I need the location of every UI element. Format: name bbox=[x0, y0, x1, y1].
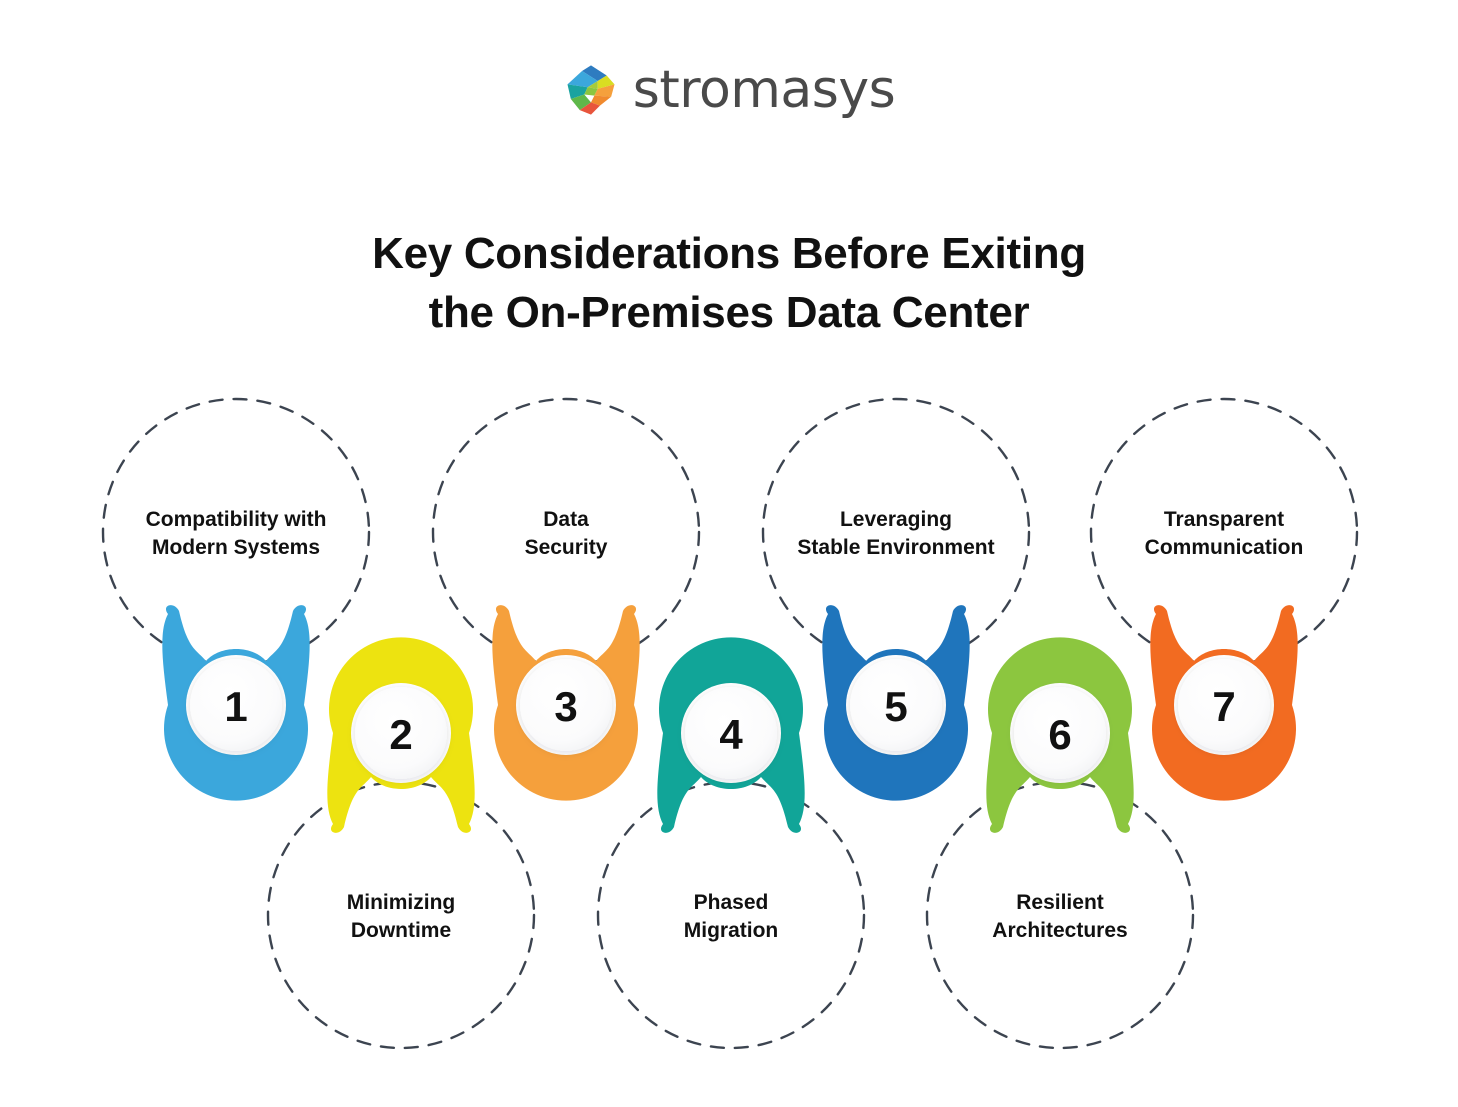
step-number-disc bbox=[190, 659, 282, 751]
step-number-disc bbox=[850, 659, 942, 751]
bubble-dashed-circle bbox=[268, 782, 534, 1048]
step-number-disc bbox=[355, 687, 447, 779]
steps-diagram-canvas bbox=[0, 0, 1458, 1107]
step-number-disc bbox=[1014, 687, 1106, 779]
bubble-dashed-circle bbox=[763, 399, 1029, 665]
bubble-dashed-circle bbox=[598, 782, 864, 1048]
bubble-dashed-circle bbox=[927, 782, 1193, 1048]
step-number-disc bbox=[1178, 659, 1270, 751]
bubble-dashed-circle bbox=[1091, 399, 1357, 665]
step-number-disc bbox=[520, 659, 612, 751]
step-number-disc bbox=[685, 687, 777, 779]
bubble-dashed-circle bbox=[433, 399, 699, 665]
bubble-dashed-circle bbox=[103, 399, 369, 665]
steps-diagram: 1Compatibility with Modern Systems2Minim… bbox=[0, 0, 1458, 1107]
